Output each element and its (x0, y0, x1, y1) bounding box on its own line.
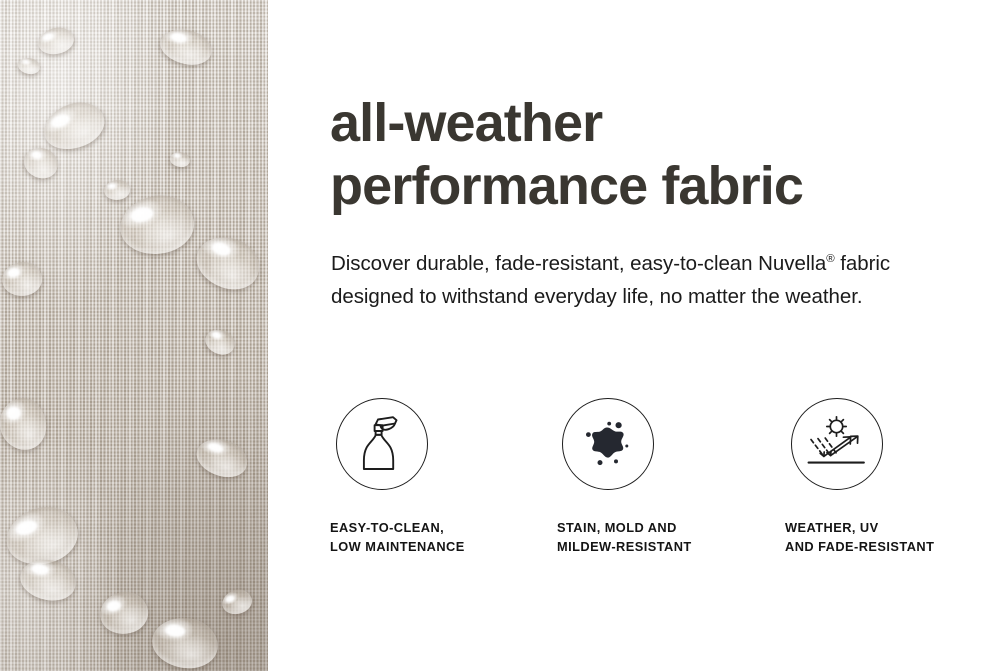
fabric-photo-panel (0, 0, 268, 671)
feature-caption-stain-resistant: STAIN, MOLD AND MILDEW-RESISTANT (557, 490, 777, 557)
sun-uv-reflect-icon (806, 415, 868, 473)
feature-caption-easy-to-clean: EASY-TO-CLEAN, LOW MAINTENANCE (330, 490, 550, 557)
content-panel: all-weather performance fabric Discover … (268, 0, 1005, 671)
description-text: Discover durable, fade-resistant, easy-t… (331, 247, 961, 313)
feature-caption-weather-resistant: WEATHER, UV AND FADE-RESISTANT (785, 490, 1005, 557)
icon-badge-easy-to-clean (336, 398, 428, 490)
stain-splatter-icon (579, 415, 637, 473)
feature-list: EASY-TO-CLEAN, LOW MAINTENANCE (268, 398, 1005, 578)
feature-item-easy-to-clean: EASY-TO-CLEAN, LOW MAINTENANCE (330, 398, 550, 557)
all-weather-fabric-banner: all-weather performance fabric Discover … (0, 0, 1005, 671)
spray-bottle-icon (354, 413, 410, 475)
page-title: all-weather performance fabric (330, 92, 1005, 218)
icon-badge-stain-resistant (562, 398, 654, 490)
icon-badge-weather-resistant (791, 398, 883, 490)
feature-item-weather-resistant: WEATHER, UV AND FADE-RESISTANT (785, 398, 1005, 557)
description-text-before: Discover durable, fade-resistant, easy-t… (331, 252, 826, 275)
feature-item-stain-resistant: STAIN, MOLD AND MILDEW-RESISTANT (557, 398, 777, 557)
registered-trademark-symbol: ® (826, 253, 834, 265)
